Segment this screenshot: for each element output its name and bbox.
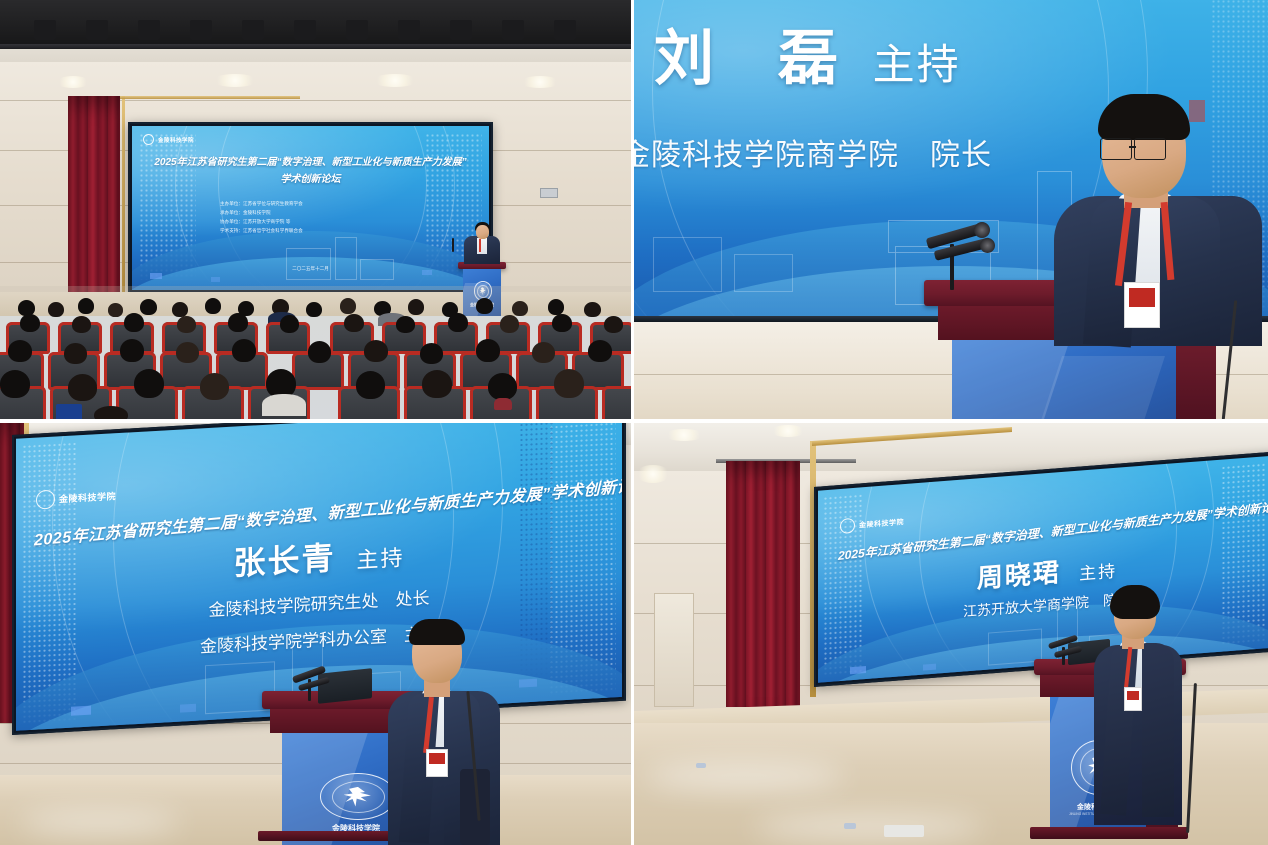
host-name-text: 张长青 [234, 540, 336, 582]
audience-head [500, 315, 519, 333]
host-hair [1110, 585, 1160, 619]
speaker-lanyard [479, 239, 481, 252]
audience-head [532, 342, 555, 363]
led-screen-content: 金陵科技学院 2025年江苏省研究生第二届“数字治理、新型工业化与新质生产力发展… [132, 126, 489, 290]
stage-spotlight [34, 20, 56, 40]
stage-spotlight [450, 20, 472, 40]
podium-front-panel [952, 340, 1176, 419]
eyeglasses-icon [1134, 138, 1166, 160]
host-name-badge [1124, 282, 1160, 328]
audience-head [200, 373, 229, 400]
stage-spotlight [242, 20, 264, 40]
exit-sign [540, 188, 558, 198]
host-hair [1098, 94, 1190, 140]
audience-head [306, 302, 322, 317]
host-person [1048, 86, 1268, 336]
ceiling-light [520, 76, 560, 88]
stage-spotlight [554, 20, 576, 40]
host-name-text: 刘 磊 [654, 25, 840, 92]
led-screen-content: 金陵科技学院 2025年江苏省研究生第二届“数字治理、新型工业化与新质生产力发展… [818, 455, 1268, 682]
host-hair [409, 619, 465, 645]
stage-spotlight [346, 20, 368, 40]
stage-spotlight [294, 20, 316, 40]
audience-head [94, 406, 128, 419]
stage-spotlight [190, 20, 212, 40]
audience-head [0, 370, 30, 398]
eyeglasses-bridge [1129, 146, 1136, 148]
host-name-text: 周晓珺 [977, 557, 1061, 593]
stage-curtain [726, 461, 800, 707]
audience-head [476, 339, 500, 362]
host-name: 刘 磊 主持 [654, 10, 961, 97]
host-role-text: 主持 [1079, 562, 1117, 584]
audience-head [177, 316, 196, 333]
audience-head [340, 298, 356, 314]
stage-door [654, 593, 694, 707]
stage-spotlight [138, 20, 160, 40]
speaker-at-podium [462, 222, 502, 262]
audience-head [108, 303, 123, 317]
audience-head [548, 299, 564, 315]
institute-seal-icon [143, 134, 154, 145]
screen-detail-line: 主办单位：江苏省学位与研究生教育学会 [220, 201, 303, 207]
screen-detail-line: 二〇二五年十二月 [292, 266, 329, 272]
ceiling-light [212, 74, 258, 87]
audience-head [228, 313, 248, 332]
institute-seal-icon [840, 518, 855, 534]
auditorium-seat [602, 386, 631, 419]
audience-head [512, 301, 528, 316]
panel-host-zhang-changqing: 金陵科技学院 2025年江苏省研究生第二届“数字治理、新型工业化与新质生产力发展… [0, 423, 631, 845]
audience-head [364, 340, 388, 362]
audience-head [476, 298, 493, 314]
ceiling-light [372, 74, 418, 87]
audience-shoulders [262, 394, 306, 416]
audience-head [552, 314, 572, 332]
audience-head [124, 313, 144, 332]
audience-cap [494, 398, 512, 410]
photo-collage: 金陵科技学院 2025年江苏省研究生第二届“数字治理、新型工业化与新质生产力发展… [0, 0, 1268, 845]
audience-head [78, 298, 94, 314]
audience-head [64, 343, 87, 364]
audience-head [68, 374, 97, 401]
host-name-badge [426, 749, 448, 777]
stage-spotlight [398, 20, 420, 40]
audience-head [588, 340, 612, 362]
institute-seal-icon [36, 490, 55, 510]
audience-head [172, 302, 188, 317]
audience-head [408, 299, 424, 315]
institute-badge: 金陵科技学院 [143, 134, 194, 145]
truss-rail [0, 44, 631, 49]
audience-head [584, 302, 601, 317]
audience-head [422, 370, 452, 398]
stage-spotlight [502, 20, 524, 40]
audience-head [8, 340, 32, 362]
speaker-head [476, 225, 489, 239]
host-person [382, 619, 502, 845]
stage-curtain [68, 96, 120, 296]
audience-head [554, 369, 584, 398]
host-name-badge [1124, 687, 1142, 711]
audience-head [448, 313, 468, 332]
audience-head [20, 314, 40, 332]
laptop-screen [318, 668, 372, 704]
led-screen: 金陵科技学院 2025年江苏省研究生第二届“数字治理、新型工业化与新质生产力发展… [128, 122, 493, 294]
floor-fitting [696, 763, 706, 768]
screen-detail-line: 学术支持：江苏省哲学社会科学界联合会 [220, 228, 303, 234]
institute-badge-label: 金陵科技学院 [59, 489, 116, 505]
stage-closeup-room: 刘 磊 主持 金陵科技学院商学院 院长 [634, 0, 1268, 419]
stage-room: 金陵科技学院 2025年江苏省研究生第二届“数字治理、新型工业化与新质生产力发展… [634, 423, 1268, 845]
audience-head [344, 314, 364, 332]
ceiling-light [56, 76, 90, 88]
city-skyline-motif [639, 220, 808, 292]
stage-spotlight [86, 20, 108, 40]
institute-badge-label: 金陵科技学院 [859, 517, 904, 530]
audience-head [488, 373, 517, 400]
audience-head [176, 342, 199, 363]
led-screen: 金陵科技学院 2025年江苏省研究生第二届“数字治理、新型工业化与新质生产力发展… [814, 451, 1268, 687]
audience-head [396, 316, 415, 333]
screen-detail-line: 协办单位：江苏开放大学商学院 等 [220, 219, 290, 225]
curtain-gold-trim [122, 96, 125, 296]
panel-opening-ceremony-wide-shot: 金陵科技学院 2025年江苏省研究生第二届“数字治理、新型工业化与新质生产力发展… [0, 0, 631, 419]
audience-head [205, 298, 221, 314]
audience [0, 286, 631, 419]
host-role-text: 主持 [356, 545, 404, 573]
microphone-grill [974, 222, 990, 238]
stage-room: 金陵科技学院 2025年江苏省研究生第二届“数字治理、新型工业化与新质生产力发展… [0, 423, 631, 845]
microphone-grill [980, 238, 995, 253]
audience-head [420, 343, 443, 364]
floor-cable-cover [884, 825, 924, 837]
audience-head [120, 339, 144, 362]
audience-head [308, 341, 331, 363]
screen-title-line2: 学术创新论坛 [281, 170, 341, 185]
audience-head [48, 302, 64, 317]
audience-head [134, 369, 164, 398]
city-skyline-motif [261, 238, 404, 281]
institute-badge-label: 金陵科技学院 [158, 136, 194, 144]
host-lapel [1142, 643, 1174, 817]
audience-head [356, 371, 385, 399]
audience-head [232, 339, 256, 362]
audience-head [140, 299, 157, 315]
host-affiliation: 金陵科技学院商学院 院长 [634, 130, 992, 174]
panel-host-zhou-xiaojun: 金陵科技学院 2025年江苏省研究生第二届“数字治理、新型工业化与新质生产力发展… [634, 423, 1268, 845]
host-role-text: 主持 [873, 41, 961, 88]
audience-head [604, 316, 623, 333]
host-person [1090, 585, 1186, 835]
host-name: 张长青 主持 [234, 529, 405, 585]
curtain-gold-trim [120, 96, 300, 99]
audience-head [72, 316, 91, 333]
audience-bag [56, 404, 82, 419]
screen-detail-line: 承办单位：金陵科技学院 [220, 210, 271, 216]
auditorium-room: 金陵科技学院 2025年江苏省研究生第二届“数字治理、新型工业化与新质生产力发展… [0, 0, 631, 419]
audience-head [280, 315, 299, 333]
floor-fitting [844, 823, 856, 829]
screen-title-line1: 2025年江苏省研究生第二届“数字治理、新型工业化与新质生产力发展” [154, 153, 466, 168]
microphone-stem [452, 238, 454, 252]
eyeglasses-icon [1100, 138, 1132, 160]
panel-host-liu-lei: 刘 磊 主持 金陵科技学院商学院 院长 [634, 0, 1268, 419]
